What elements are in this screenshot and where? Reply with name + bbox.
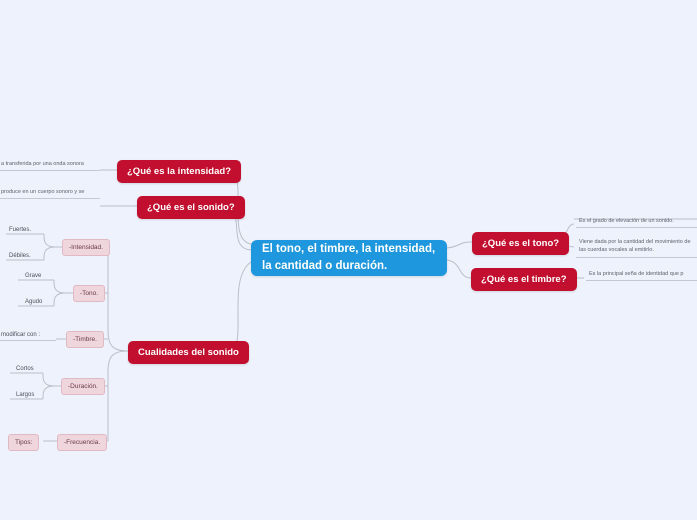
branch-node-timbre[interactable]: ¿Qué es el timbre?: [471, 268, 577, 291]
leaf-tono-description-2-label: Viene dada por la cantidad del movimient…: [579, 238, 694, 255]
subnode-intensidad-label: -Intensidad.: [69, 244, 103, 251]
branch-node-sonido[interactable]: ¿Qué es el sonido?: [137, 196, 245, 219]
leaf-sonido-description-label: produce en un cuerpo sonoro y se: [1, 188, 84, 196]
subnode-intensidad[interactable]: -Intensidad.: [62, 239, 110, 256]
leaf-largos: Largos: [13, 390, 43, 400]
branch-node-tono-label: ¿Qué es el tono?: [482, 238, 559, 249]
link-tono-agudo: [54, 293, 73, 306]
leaf-intensidad-description: a transferida por una onda sonora: [0, 158, 100, 171]
leaf-debiles-label: Débiles.: [9, 253, 31, 259]
leaf-tono-description-2: Viene dada por la cantidad del movimient…: [576, 236, 697, 258]
branch-node-sonido-label: ¿Qué es el sonido?: [147, 202, 235, 213]
leaf-agudo-label: Agudo: [25, 299, 42, 305]
mindmap-canvas: El tono, el timbre, la intensidad, la ca…: [0, 0, 697, 520]
subnode-tono-label: -Tono.: [80, 290, 98, 297]
link-int-debiles: [44, 247, 63, 260]
leaf-debiles: Débiles.: [6, 251, 44, 261]
leaf-cortos: Cortos: [13, 364, 43, 374]
leaf-sonido-description: produce en un cuerpo sonoro y se: [0, 186, 100, 199]
link-cualidades-spine-up: [108, 255, 128, 351]
link-root-timbre: [447, 260, 471, 278]
link-tono-grave: [54, 280, 73, 293]
leaf-tipos-label: Tipos:: [15, 439, 32, 446]
leaf-tono-description-1: Es el grado de elevación de un sonido.: [576, 215, 697, 228]
leaf-grave-label: Grave: [25, 273, 41, 279]
leaf-timbre-description: Es la principal seña de identidad que p: [586, 268, 697, 281]
subnode-timbre-label: -Timbre.: [73, 336, 97, 343]
link-int-fuertes: [44, 234, 63, 247]
subnode-timbre[interactable]: -Timbre.: [66, 331, 104, 348]
subnode-duracion-label: -Duración.: [68, 383, 98, 390]
link-root-tono: [447, 242, 472, 248]
leaf-tono-description-1-label: Es el grado de elevación de un sonido.: [579, 217, 674, 225]
leaf-fuertes-label: Fuertes.: [9, 227, 31, 233]
link-dur-largos: [43, 386, 62, 399]
leaf-tipos[interactable]: Tipos:: [8, 434, 39, 451]
branch-node-intensidad[interactable]: ¿Qué es la intensidad?: [117, 160, 241, 183]
link-dur-cortos: [43, 373, 62, 386]
root-node-label: El tono, el timbre, la intensidad, la ca…: [262, 241, 436, 274]
leaf-timbre-description-label: Es la principal seña de identidad que p: [589, 270, 683, 278]
subnode-tono[interactable]: -Tono.: [73, 285, 105, 302]
leaf-modificar-con: modificar con :: [0, 330, 56, 341]
link-root-cualidades: [228, 262, 251, 351]
branch-node-cualidades-label: Cualidades del sonido: [138, 347, 239, 358]
branch-node-tono[interactable]: ¿Qué es el tono?: [472, 232, 569, 255]
branch-node-timbre-label: ¿Qué es el timbre?: [481, 274, 567, 285]
leaf-grave: Grave: [22, 271, 54, 281]
branch-node-cualidades[interactable]: Cualidades del sonido: [128, 341, 249, 364]
leaf-agudo: Agudo: [22, 297, 54, 307]
root-node[interactable]: El tono, el timbre, la intensidad, la ca…: [251, 240, 447, 276]
subnode-frecuencia-label: -Frecuencia.: [64, 439, 100, 446]
subnode-duracion[interactable]: -Duración.: [61, 378, 105, 395]
subnode-frecuencia[interactable]: -Frecuencia.: [57, 434, 107, 451]
branch-node-intensidad-label: ¿Qué es la intensidad?: [127, 166, 231, 177]
link-cualidades-spine-down: [108, 351, 128, 441]
leaf-fuertes: Fuertes.: [6, 225, 44, 235]
leaf-largos-label: Largos: [16, 392, 34, 398]
leaf-cortos-label: Cortos: [16, 366, 34, 372]
leaf-modificar-con-label: modificar con :: [1, 332, 40, 338]
leaf-intensidad-description-label: a transferida por una onda sonora: [1, 160, 84, 168]
